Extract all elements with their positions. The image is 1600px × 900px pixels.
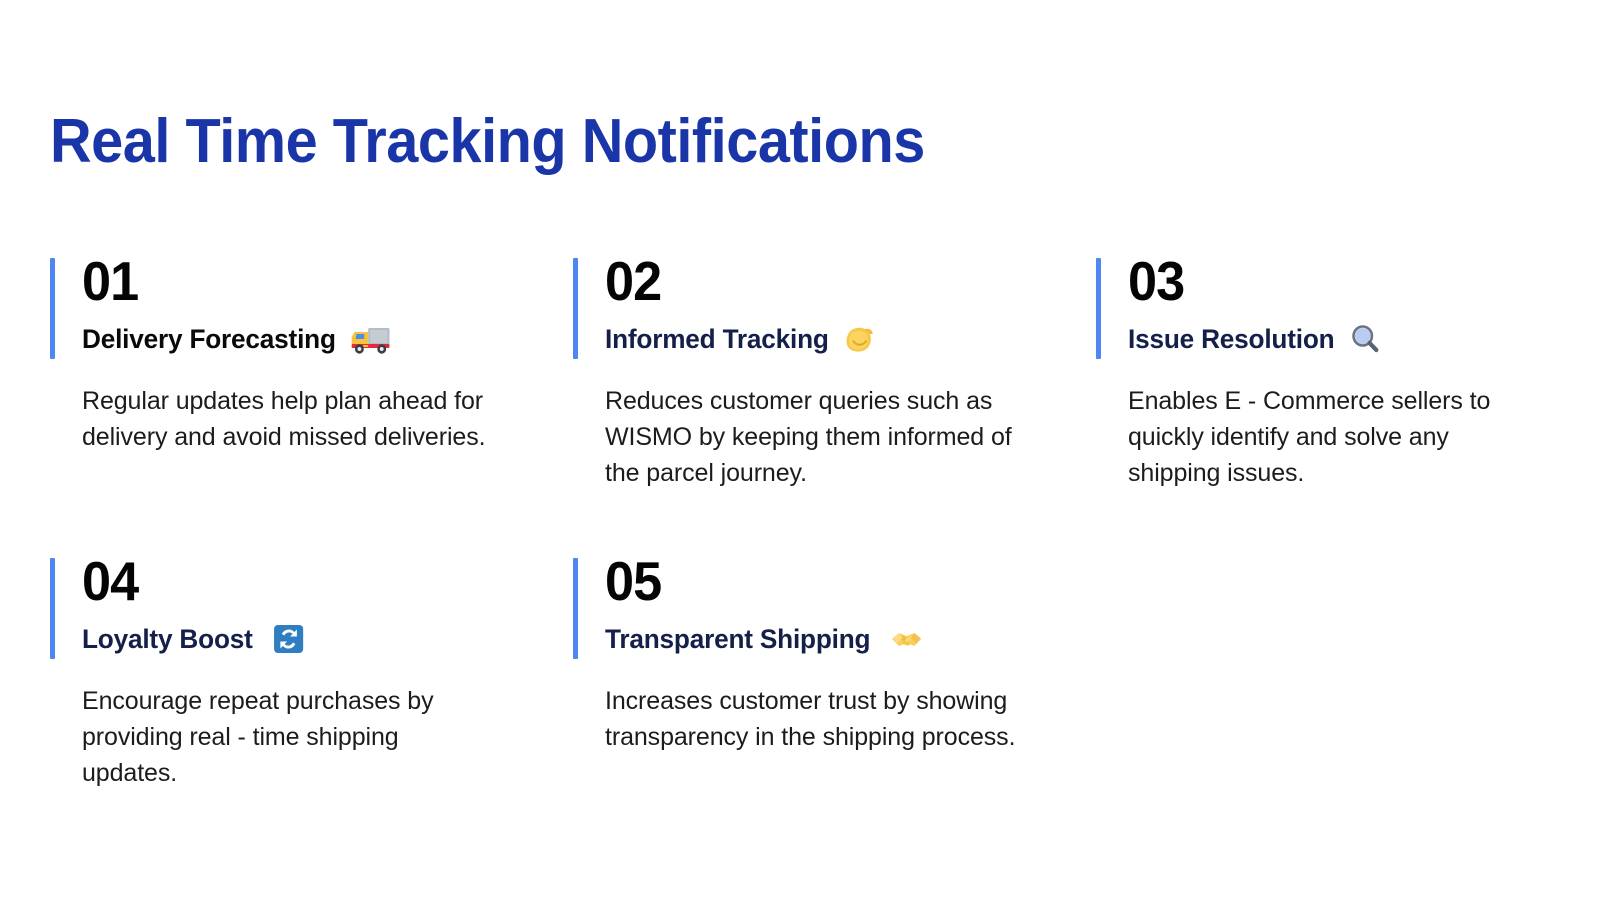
card-body: Enables E - Commerce sellers to quickly … bbox=[1128, 383, 1543, 491]
feature-card-02: 02 Informed Tracking Reduces customer qu… bbox=[573, 252, 1096, 552]
card-number: 03 bbox=[1128, 252, 1538, 310]
feature-card-grid: 01 Delivery Forecasting bbox=[50, 252, 1560, 852]
card-number: 01 bbox=[82, 252, 548, 310]
card-body: Regular updates help plan ahead for deli… bbox=[82, 383, 497, 455]
card-title-text: Loyalty Boost bbox=[82, 620, 253, 658]
card-title-text: Informed Tracking bbox=[605, 320, 829, 358]
card-title-text: Issue Resolution bbox=[1128, 320, 1334, 358]
card-title-row: Delivery Forecasting bbox=[82, 320, 558, 358]
card-body: Increases customer trust by showing tran… bbox=[605, 683, 1020, 755]
feature-card-03: 03 Issue Resolution Enables E - Commerce… bbox=[1096, 252, 1560, 552]
feature-card-05: 05 Transparent Shipping Increases custom… bbox=[573, 552, 1096, 852]
card-title-row: Informed Tracking bbox=[605, 320, 1081, 358]
accent-bar bbox=[573, 258, 578, 359]
magnifying-glass-icon bbox=[1348, 322, 1381, 356]
delivery-truck-icon bbox=[349, 322, 392, 356]
card-body: Encourage repeat purchases by providing … bbox=[82, 683, 497, 791]
feature-card-01: 01 Delivery Forecasting bbox=[50, 252, 573, 552]
card-title-row: Loyalty Boost bbox=[82, 620, 558, 658]
accent-bar bbox=[50, 558, 55, 659]
accent-bar bbox=[1096, 258, 1101, 359]
card-number: 02 bbox=[605, 252, 1071, 310]
accent-bar bbox=[50, 258, 55, 359]
flexed-biceps-icon bbox=[842, 322, 875, 356]
handshake-icon bbox=[890, 622, 923, 656]
card-body: Reduces customer queries such as WISMO b… bbox=[605, 383, 1020, 491]
card-number: 04 bbox=[82, 552, 548, 610]
accent-bar bbox=[573, 558, 578, 659]
card-title-text: Delivery Forecasting bbox=[82, 320, 336, 358]
page-title: Real Time Tracking Notifications bbox=[50, 106, 925, 178]
card-title-text: Transparent Shipping bbox=[605, 620, 870, 658]
feature-card-04: 04 Loyalty Boost Encourage repeat purcha… bbox=[50, 552, 573, 852]
slide-canvas: Real Time Tracking Notifications 01 Deli… bbox=[0, 0, 1600, 900]
card-title-row: Issue Resolution bbox=[1128, 320, 1547, 358]
card-title-row: Transparent Shipping bbox=[605, 620, 1081, 658]
card-number: 05 bbox=[605, 552, 1071, 610]
repeat-button-icon bbox=[272, 622, 305, 656]
